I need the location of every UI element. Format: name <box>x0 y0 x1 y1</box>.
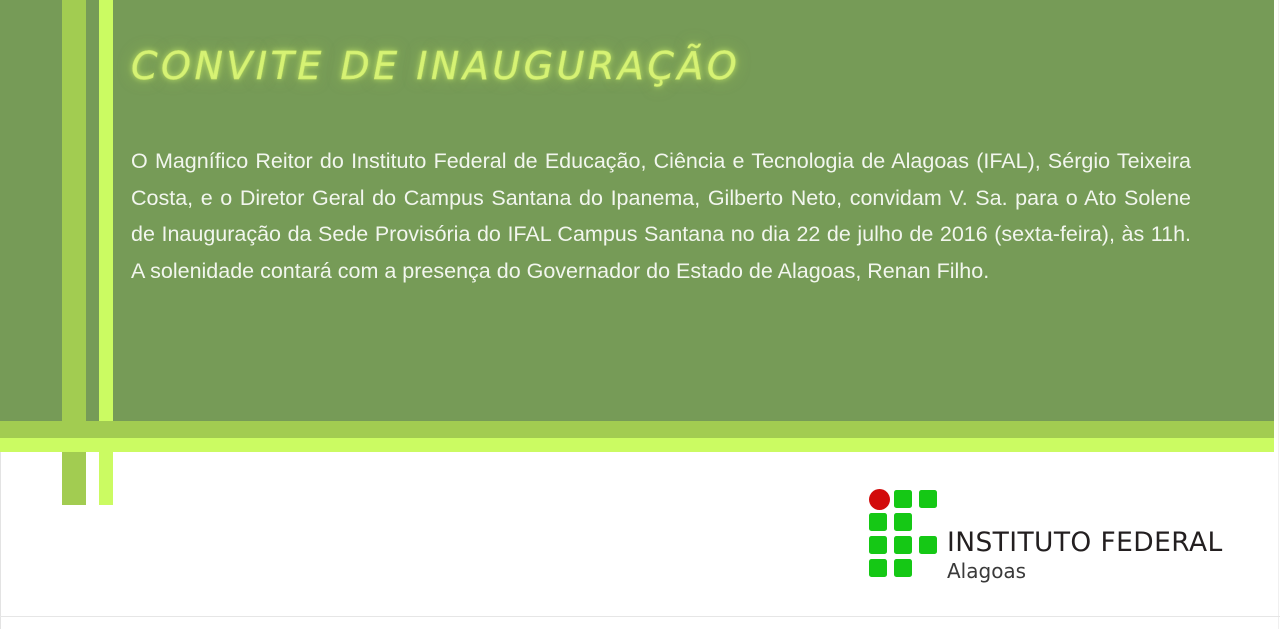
logo-cell <box>869 536 887 554</box>
logo-cell <box>894 559 912 577</box>
invitation-slide: CONVITE DE INAUGURAÇÃO O Magnífico Reito… <box>0 0 1280 629</box>
ifal-logo-text: INSTITUTO FEDERAL Alagoas <box>947 528 1202 584</box>
logo-cell <box>919 490 937 508</box>
slide-edge-bottom <box>0 616 1280 617</box>
logo-cell <box>894 536 912 554</box>
logo-cell <box>894 513 912 531</box>
decorative-horizontal-band-bright-green <box>0 438 1274 452</box>
slide-edge-right <box>1278 0 1279 629</box>
red-circle-icon <box>869 489 890 510</box>
logo-cell <box>894 490 912 508</box>
logo-institution-name: INSTITUTO FEDERAL <box>947 528 1202 558</box>
ifal-grid-mark-icon <box>869 489 937 579</box>
logo-state-name: Alagoas <box>947 559 1202 584</box>
logo-cell <box>919 536 937 554</box>
ifal-logo: INSTITUTO FEDERAL Alagoas <box>869 489 1199 581</box>
decorative-horizontal-band-mid-green <box>0 421 1274 438</box>
logo-cell <box>869 559 887 577</box>
logo-cell <box>869 513 887 531</box>
invitation-body-text: O Magnífico Reitor do Instituto Federal … <box>131 143 1191 289</box>
page-title: CONVITE DE INAUGURAÇÃO <box>131 44 1131 88</box>
